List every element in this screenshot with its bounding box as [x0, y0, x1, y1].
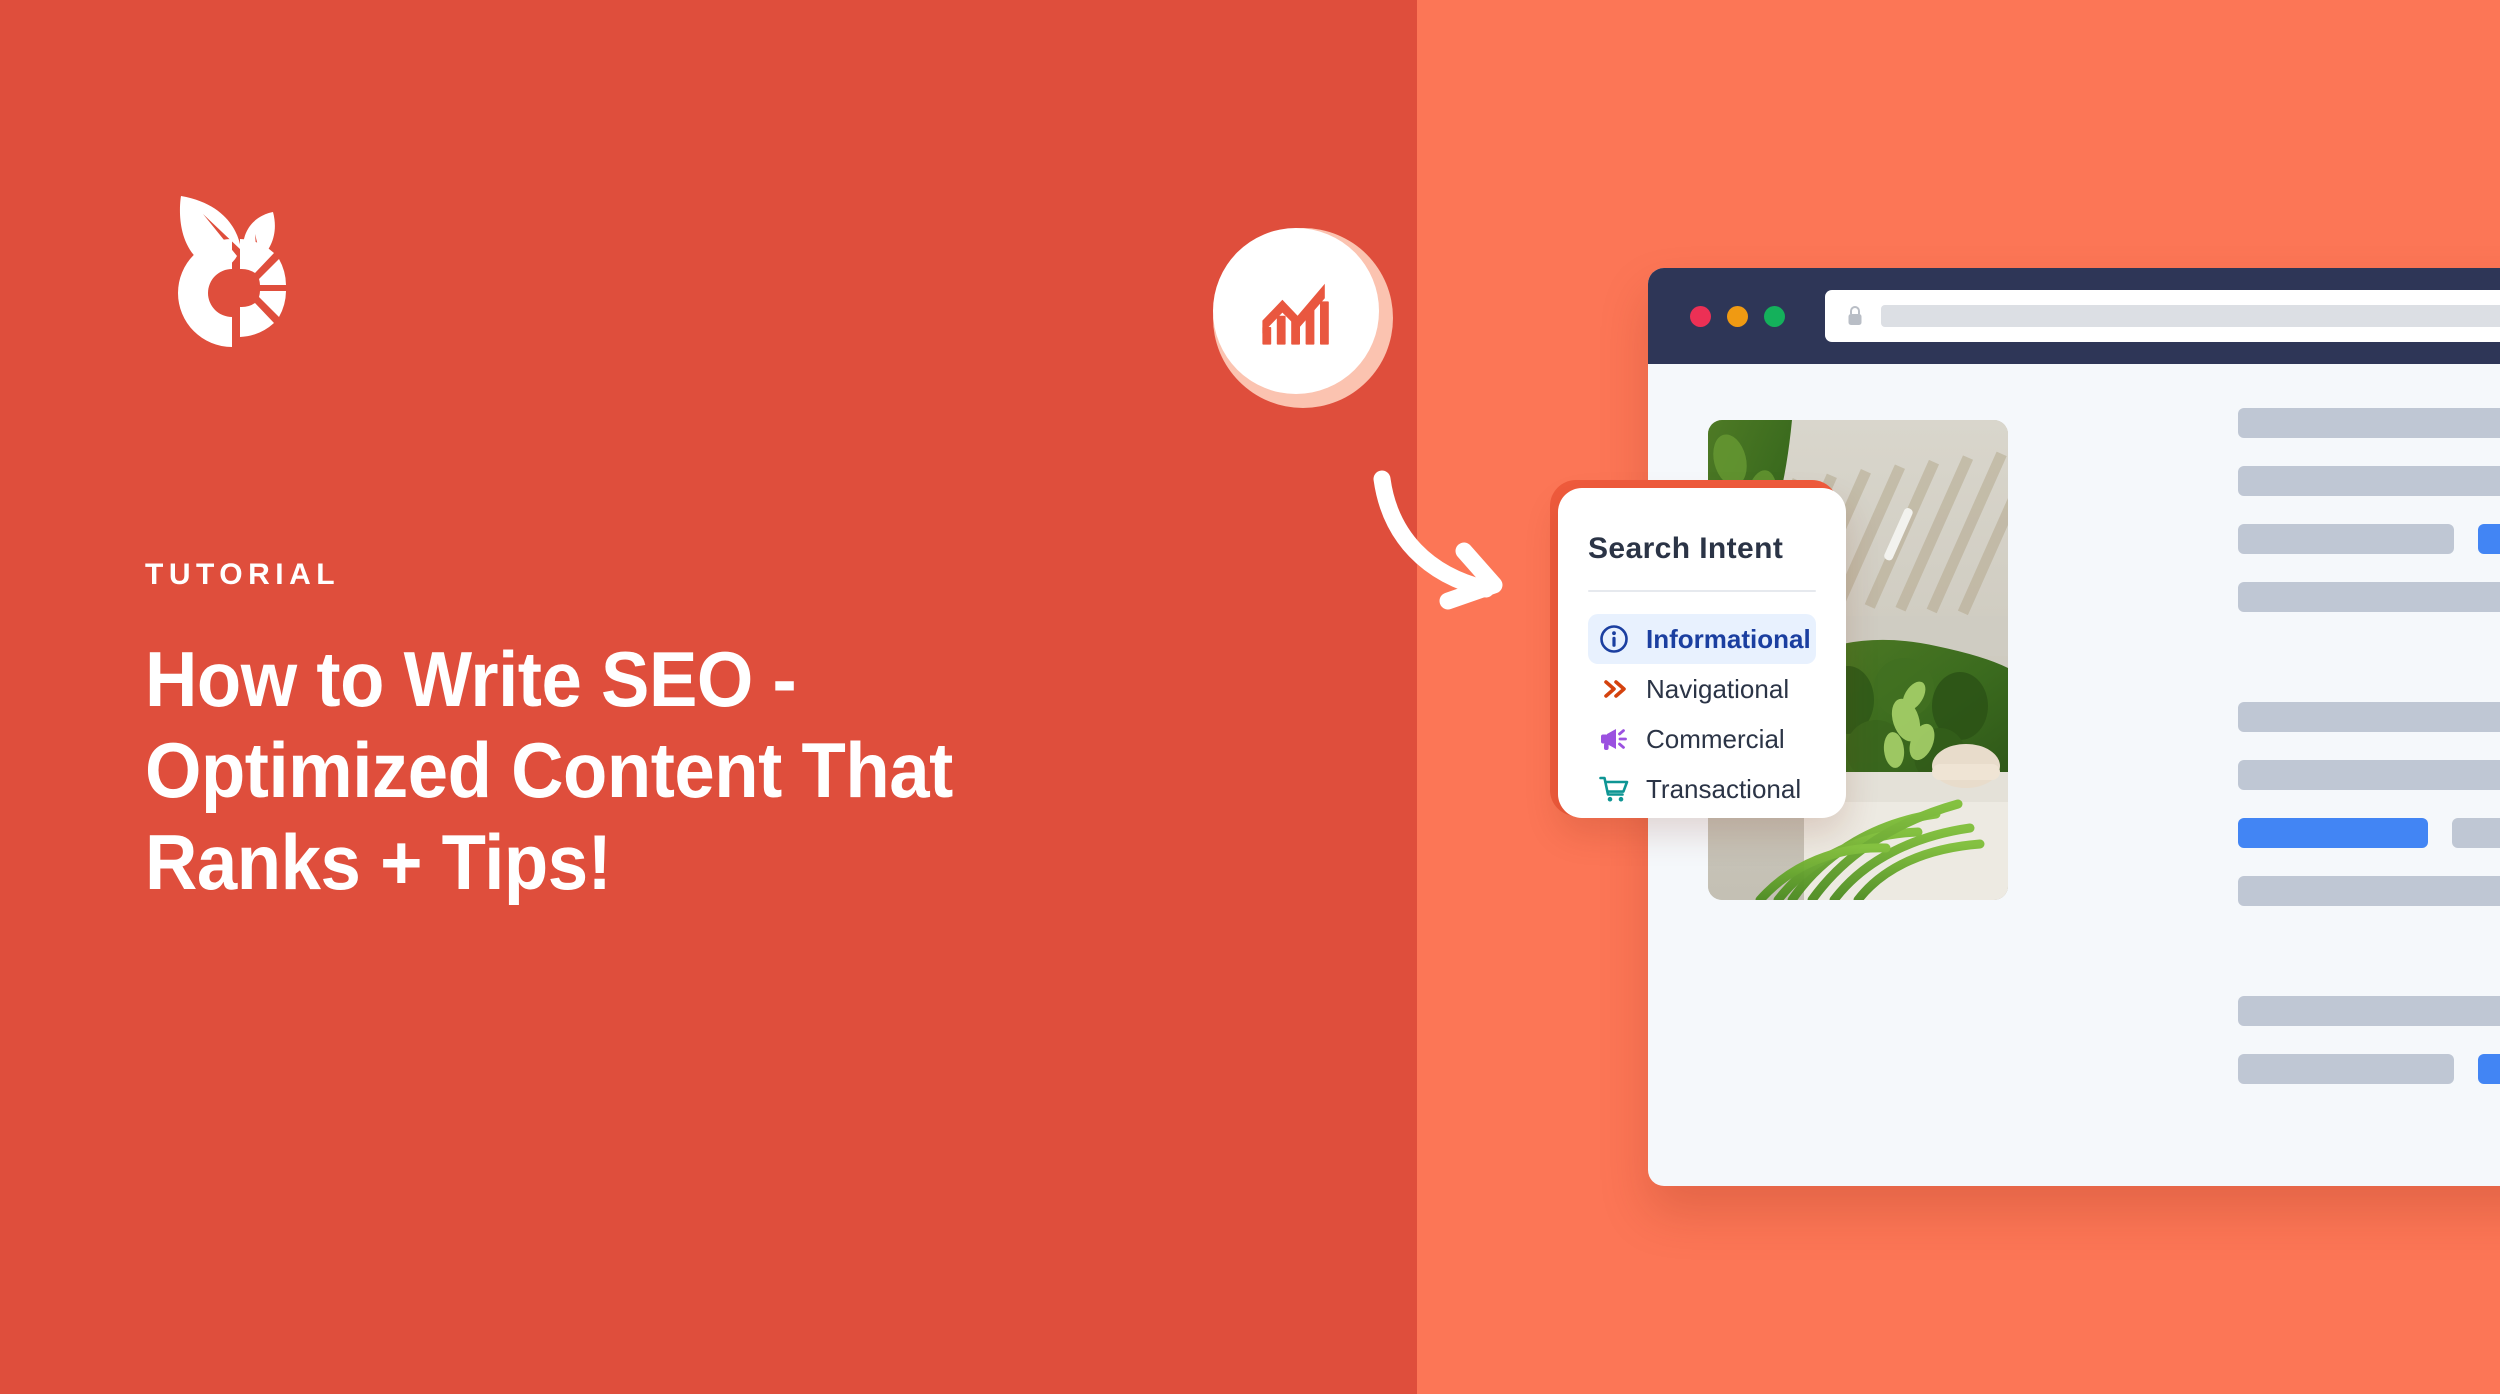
skeleton-gap: [2238, 438, 2500, 466]
intent-row-commercial[interactable]: Commercial: [1588, 714, 1816, 764]
skeleton-bar: [2238, 466, 2500, 496]
page-title: How to Write SEO - Optimized Content Tha…: [145, 634, 1084, 908]
skeleton-row: [2238, 996, 2500, 1026]
skeleton-gap: [2238, 554, 2500, 582]
curved-arrow: [1368, 463, 1558, 623]
close-dot[interactable]: [1690, 306, 1711, 327]
intent-list: InformationalNavigationalCommercialTrans…: [1588, 614, 1816, 814]
skeleton-gap: [2238, 906, 2500, 934]
intent-label: Transactional: [1646, 776, 1801, 802]
skeleton-row: [2238, 408, 2500, 438]
skeleton-bar: [2238, 1054, 2454, 1084]
skeleton-row: [2238, 524, 2500, 554]
url-input[interactable]: [1881, 305, 2500, 327]
skeleton-row: [2238, 818, 2500, 848]
skeleton-gap: [2238, 732, 2500, 760]
skeleton-bar: [2238, 702, 2500, 732]
skeleton-row: [2238, 1054, 2500, 1084]
headline-line-2: Optimized Content That: [145, 725, 1084, 816]
info-circle-icon: [1598, 623, 1630, 655]
skeleton-gap: [2238, 612, 2500, 640]
minimize-dot[interactable]: [1727, 306, 1748, 327]
skeleton-gap: [2238, 1026, 2500, 1054]
traffic-light-dots: [1690, 306, 1785, 327]
skeleton-bar: [2238, 408, 2500, 438]
skeleton-row: [2238, 582, 2500, 612]
intent-label: Informational: [1646, 626, 1811, 652]
skeleton-bar: [2238, 996, 2500, 1026]
search-intent-card-stack: Search Intent InformationalNavigationalC…: [1550, 480, 1850, 820]
intent-row-informational[interactable]: Informational: [1588, 614, 1816, 664]
intent-label: Navigational: [1646, 676, 1789, 702]
skeleton-gap: [2238, 790, 2500, 818]
orange-fruit-logo: [145, 170, 320, 350]
skeleton-gap: [2238, 934, 2500, 996]
double-chevron-right-icon: [1598, 673, 1630, 705]
skeleton-gap: [2238, 640, 2500, 702]
skeleton-bar-accent: [2238, 818, 2428, 848]
badge-disc: [1213, 228, 1379, 394]
skeleton-row: [2238, 466, 2500, 496]
skeleton-row: [2238, 702, 2500, 732]
kicker-label: TUTORIAL: [145, 560, 1295, 590]
shopping-cart-icon: [1598, 773, 1630, 805]
skeleton-gap: [2238, 496, 2500, 524]
skeleton-bar: [2238, 760, 2500, 790]
left-content-block: TUTORIAL How to Write SEO - Optimized Co…: [145, 170, 1295, 908]
browser-chrome-bar: [1648, 268, 2500, 364]
skeleton-row: [2238, 760, 2500, 790]
content-skeleton: [2238, 408, 2500, 1112]
skeleton-gap: [2238, 848, 2500, 876]
skeleton-row: [2238, 876, 2500, 906]
card-title: Search Intent: [1588, 534, 1816, 564]
megaphone-icon: [1598, 723, 1630, 755]
intent-row-transactional[interactable]: Transactional: [1588, 764, 1816, 814]
search-intent-card: Search Intent InformationalNavigationalC…: [1558, 488, 1846, 818]
skeleton-gap: [2238, 1084, 2500, 1112]
chart-badge: [1213, 228, 1393, 408]
skeleton-bar-accent: [2478, 1054, 2500, 1084]
skeleton-bar: [2238, 524, 2454, 554]
skeleton-bar: [2238, 876, 2500, 906]
curved-arrow-down-right-icon: [1368, 463, 1558, 623]
maximize-dot[interactable]: [1764, 306, 1785, 327]
intent-row-navigational[interactable]: Navigational: [1588, 664, 1816, 714]
lock-icon: [1845, 304, 1865, 328]
address-bar[interactable]: [1825, 290, 2500, 342]
skeleton-bar-accent: [2478, 524, 2500, 554]
skeleton-bar: [2238, 582, 2500, 612]
skeleton-bar: [2452, 818, 2500, 848]
headline-line-3: Ranks + Tips!: [145, 817, 1084, 908]
card-divider: [1588, 590, 1816, 592]
bar-chart-trend-icon: [1256, 271, 1336, 351]
poster-canvas: TUTORIAL How to Write SEO - Optimized Co…: [0, 0, 2500, 1394]
intent-label: Commercial: [1646, 726, 1785, 752]
headline-line-1: How to Write SEO -: [145, 634, 1084, 725]
